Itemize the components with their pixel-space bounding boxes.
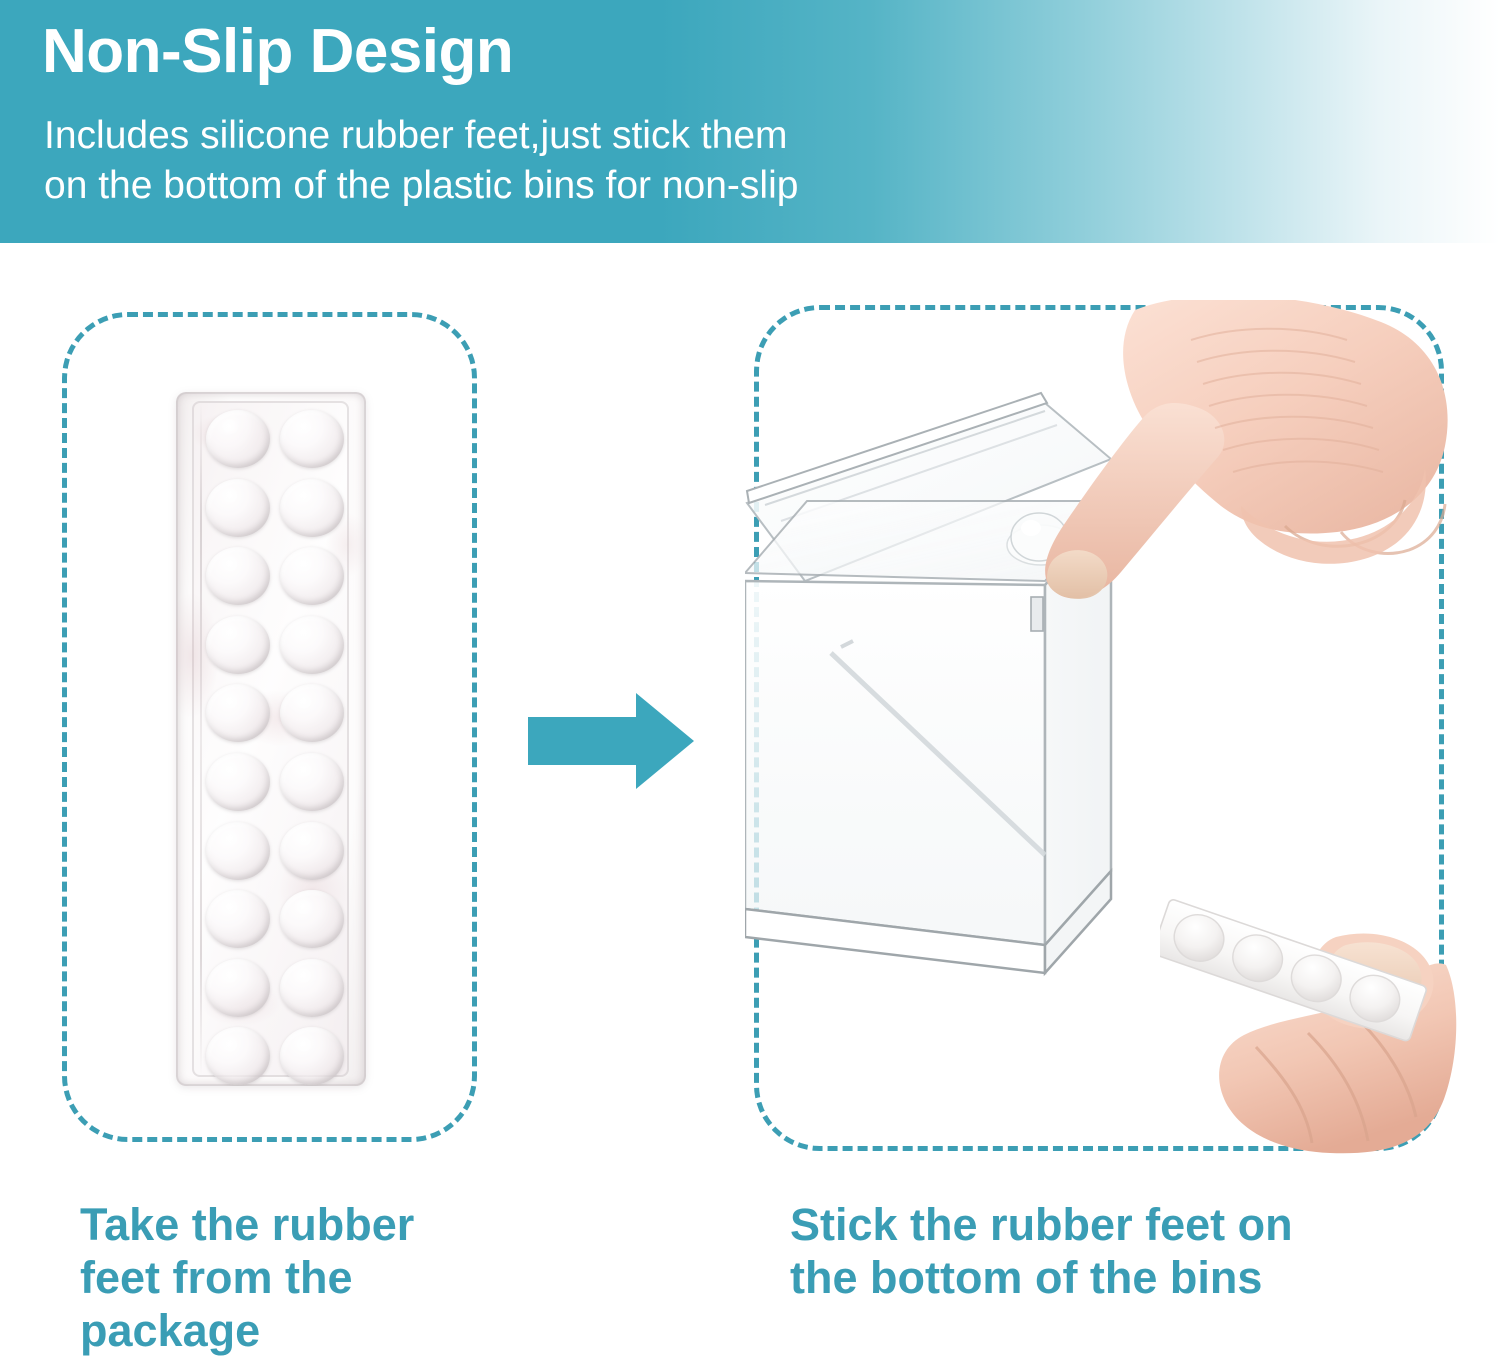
blister-crease-line — [200, 402, 202, 1076]
rubber-foot — [280, 616, 344, 674]
header-banner: Non-Slip Design Includes silicone rubber… — [0, 0, 1500, 243]
blister-pack-of-rubber-feet — [176, 392, 366, 1086]
rubber-foot — [280, 753, 344, 811]
rubber-foot — [280, 1027, 344, 1085]
rubber-feet-backing-strip — [1160, 872, 1460, 1072]
rubber-foot — [206, 890, 270, 948]
rubber-foot — [280, 684, 344, 742]
step-stick-caption: Stick the rubber feet on the bottom of t… — [790, 1198, 1430, 1304]
rubber-foot — [206, 479, 270, 537]
step-take-caption: Take the rubber feet from the package — [80, 1198, 510, 1357]
rubber-foot — [280, 890, 344, 948]
rubber-foot — [206, 959, 270, 1017]
rubber-foot — [206, 822, 270, 880]
rubber-foot — [206, 616, 270, 674]
page-title: Non-Slip Design — [42, 18, 513, 86]
rubber-foot — [206, 1027, 270, 1085]
right-arrow-icon — [528, 693, 694, 789]
rubber-foot — [280, 959, 344, 1017]
hand-pressing-rubber-foot — [985, 300, 1465, 630]
header-subtitle: Includes silicone rubber feet,just stick… — [44, 111, 798, 211]
rubber-foot — [280, 479, 344, 537]
rubber-foot — [206, 547, 270, 605]
rubber-foot — [280, 822, 344, 880]
rubber-foot — [206, 684, 270, 742]
rubber-foot — [206, 753, 270, 811]
rubber-foot — [280, 547, 344, 605]
rubber-foot — [280, 410, 344, 468]
rubber-foot — [206, 410, 270, 468]
